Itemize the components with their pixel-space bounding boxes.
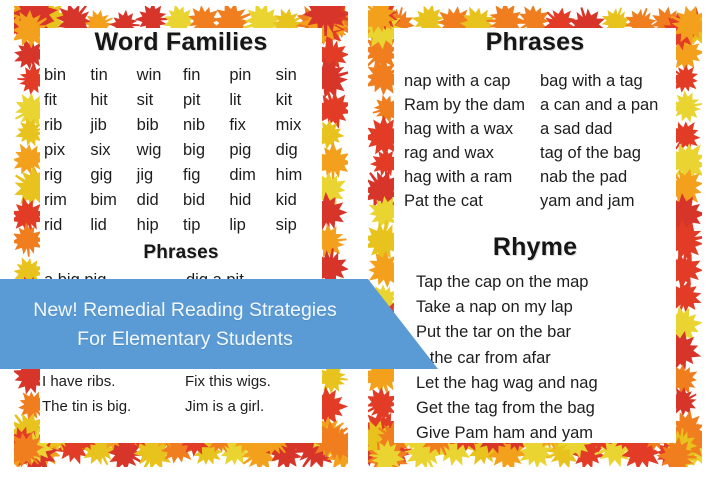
word-cell: lid bbox=[90, 214, 136, 237]
maple-leaf bbox=[14, 6, 41, 46]
rhyme-line: Tap the cap on the map bbox=[416, 270, 676, 295]
word-cell: hid bbox=[229, 189, 275, 212]
rhyme-line: Give Pam ham and yam bbox=[416, 421, 676, 446]
word-cell: sin bbox=[276, 64, 322, 87]
maple-leaf bbox=[322, 426, 348, 462]
word-cell: dim bbox=[229, 164, 275, 187]
word-cell: gig bbox=[90, 164, 136, 187]
page-right-content: Phrases nap with a capbag with a tagRam … bbox=[394, 28, 676, 443]
rhyme-line: Take a nap on my lap bbox=[416, 295, 676, 320]
sentence-item: The bib is for baby. bbox=[42, 344, 179, 369]
word-cell: him bbox=[276, 164, 322, 187]
section-title-rhyme: Rhyme bbox=[394, 233, 676, 262]
maple-leaf bbox=[368, 422, 397, 467]
word-cell: bib bbox=[137, 114, 183, 137]
word-cell: rib bbox=[44, 114, 90, 137]
word-cell: bin bbox=[44, 64, 90, 87]
word-cell: win bbox=[137, 64, 183, 87]
word-cell: nib bbox=[183, 114, 229, 137]
phrase-item: Pat the cat bbox=[404, 189, 540, 213]
word-cell: fin bbox=[183, 64, 229, 87]
word-cell: mix bbox=[276, 114, 322, 137]
word-cell: big bbox=[183, 139, 229, 162]
phrase-item: hag with a wax bbox=[404, 117, 540, 141]
sentence-item: The tin is big. bbox=[42, 394, 179, 419]
phrase-list-right: nap with a capbag with a tagRam by the d… bbox=[394, 69, 676, 213]
page-title-word-families: Word Families bbox=[40, 28, 322, 57]
page-left-content: Word Families bintinwinfinpinsinfithitsi… bbox=[40, 28, 322, 443]
phrase-item: Ram by the dam bbox=[404, 93, 540, 117]
phrase-item: rag and wax bbox=[404, 141, 540, 165]
word-cell: rid bbox=[44, 214, 90, 237]
phrase-item: tag of the bag bbox=[540, 141, 676, 165]
rhyme-line: Get the tag from the bag bbox=[416, 396, 676, 421]
phrase-item: yam and jam bbox=[540, 189, 676, 213]
phrase-item: a big pig bbox=[44, 268, 180, 292]
phrase-item: nap with a cap bbox=[404, 69, 540, 93]
phrase-item: a can and a pan bbox=[540, 93, 676, 117]
sentence-item: Fix this wigs. bbox=[185, 369, 322, 394]
maple-leaf bbox=[14, 427, 41, 467]
word-cell: dig bbox=[276, 139, 322, 162]
word-cell: hit bbox=[90, 89, 136, 112]
maple-leaf bbox=[321, 6, 348, 41]
phrase-item: nab the pad bbox=[540, 165, 676, 189]
word-cell: did bbox=[137, 189, 183, 212]
sentence-item: I see six pig. bbox=[185, 344, 322, 369]
word-cell: sit bbox=[137, 89, 183, 112]
rhyme-line: Put the tar on the bar bbox=[416, 320, 676, 345]
phrase-item: dig a pit bbox=[186, 268, 322, 292]
word-cell: tin bbox=[90, 64, 136, 87]
word-cell: kit bbox=[276, 89, 322, 112]
word-cell: jib bbox=[90, 114, 136, 137]
word-cell: fit bbox=[44, 89, 90, 112]
word-cell: jig bbox=[137, 164, 183, 187]
word-cell: lip bbox=[229, 214, 275, 237]
word-cell: sip bbox=[276, 214, 322, 237]
word-cell: bim bbox=[90, 189, 136, 212]
phrase-item: bag with a tag bbox=[540, 69, 676, 93]
worksheet-page-right[interactable]: Phrases nap with a capbag with a tagRam … bbox=[368, 6, 702, 467]
rhyme-line: e the car from afar bbox=[416, 346, 676, 371]
word-cell: fig bbox=[183, 164, 229, 187]
section-title-phrases-left: Phrases bbox=[40, 242, 322, 264]
word-cell: fix bbox=[229, 114, 275, 137]
word-cell: wig bbox=[137, 139, 183, 162]
sentence-item: I have ribs. bbox=[42, 369, 179, 394]
word-cell: rim bbox=[44, 189, 90, 212]
word-cell: six bbox=[90, 139, 136, 162]
worksheet-preview-screen: Word Families bintinwinfinpinsinfithitsi… bbox=[0, 0, 720, 478]
section-title-phrases-right: Phrases bbox=[394, 28, 676, 57]
sentence-list-left: The bib is for baby.I see six pig.I have… bbox=[40, 344, 322, 419]
phrase-item: a sad dad bbox=[540, 117, 676, 141]
worksheet-page-left[interactable]: Word Families bintinwinfinpinsinfithitsi… bbox=[14, 6, 348, 467]
word-cell: tip bbox=[183, 214, 229, 237]
word-cell: pig bbox=[229, 139, 275, 162]
word-cell: pit bbox=[183, 89, 229, 112]
maple-leaf bbox=[672, 6, 702, 48]
word-cell: pix bbox=[44, 139, 90, 162]
rhyme-line-list: Tap the cap on the mapTake a nap on my l… bbox=[394, 270, 676, 446]
word-cell: rig bbox=[44, 164, 90, 187]
word-cell: lit bbox=[229, 89, 275, 112]
phrase-item: hag with a ram bbox=[404, 165, 540, 189]
word-cell: kid bbox=[276, 189, 322, 212]
word-cell: hip bbox=[137, 214, 183, 237]
word-cell: pin bbox=[229, 64, 275, 87]
maple-leaf bbox=[368, 6, 392, 45]
word-family-grid: bintinwinfinpinsinfithitsitpitlitkitribj… bbox=[40, 64, 322, 237]
sentence-item: Jim is a girl. bbox=[185, 394, 322, 419]
word-cell: bid bbox=[183, 189, 229, 212]
rhyme-line: Let the hag wag and nag bbox=[416, 371, 676, 396]
phrase-list-left: a big pigdig a pit bbox=[40, 268, 322, 292]
maple-leaf bbox=[672, 6, 702, 53]
maple-leaf bbox=[14, 422, 41, 463]
